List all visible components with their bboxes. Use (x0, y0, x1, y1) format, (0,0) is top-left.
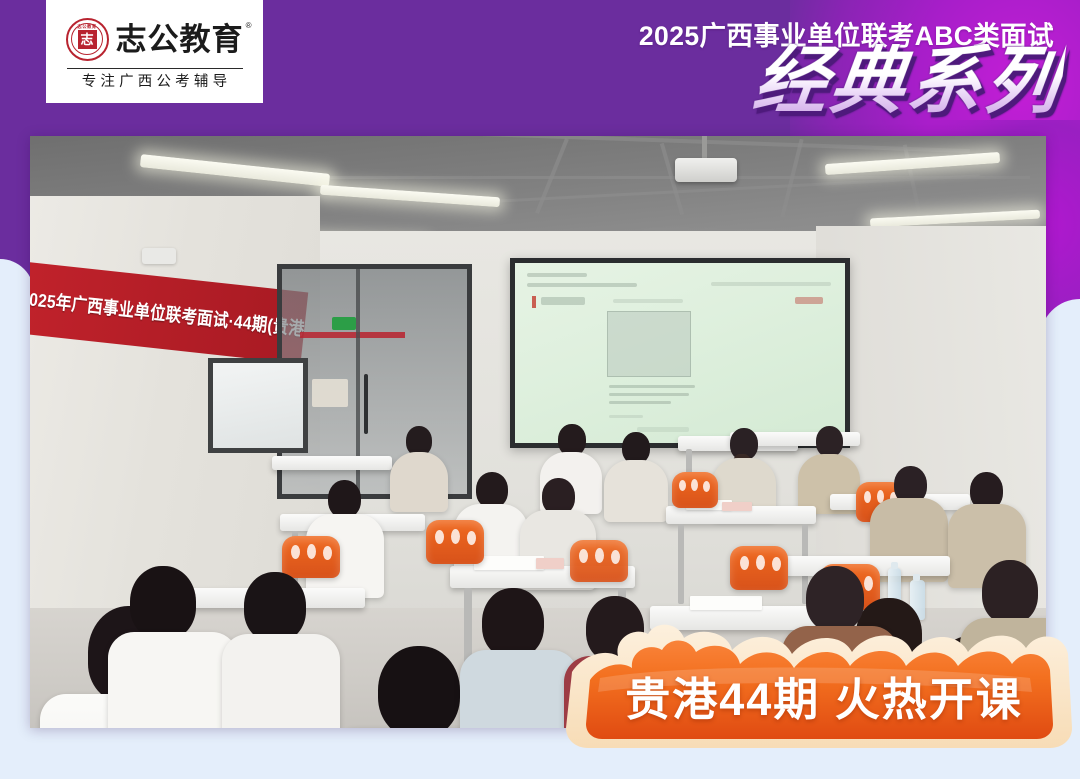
door-handle-icon[interactable] (364, 374, 368, 434)
brand-name-text: 志公教育 (116, 22, 244, 57)
wall-device-icon (142, 248, 176, 264)
projector-icon (675, 158, 737, 182)
door-red-strip (300, 332, 405, 338)
seal-emblem-icon: 志公教育 志 (66, 18, 109, 61)
header-title: 经典系列 (749, 44, 1066, 118)
screen-document-panel (607, 311, 691, 377)
paper-stack (722, 502, 752, 511)
water-bottle (888, 568, 901, 602)
paper-stack (690, 596, 762, 610)
brand-logo-box: 志公教育 志 志公教育 ® 专注广西公考辅导 (46, 0, 263, 103)
logo-divider (67, 68, 243, 70)
brand-name: 志公教育 ® (116, 24, 244, 55)
paper-stack (536, 558, 564, 569)
paper-stack (474, 556, 544, 570)
brand-tagline: 专注广西公考辅导 (78, 75, 232, 90)
flame-banner: 贵港44期 火热开课 (560, 620, 1080, 750)
chair (282, 536, 340, 578)
wall-banner-text: 2025年广西事业单位联考面试·44期(贵港) (30, 284, 308, 341)
exit-sign-icon (332, 317, 356, 330)
side-whiteboard (208, 358, 308, 453)
projector-screen (510, 258, 850, 448)
projector-screen-content (515, 263, 845, 443)
logo-top-row: 志公教育 志 志公教育 ® (66, 18, 244, 61)
projector-mount (702, 136, 707, 160)
chair (426, 520, 484, 564)
chair (672, 472, 718, 508)
chair (730, 546, 788, 590)
desk-leg (678, 524, 684, 604)
seal-center-char: 志 (78, 30, 97, 49)
registered-mark-icon: ® (246, 22, 253, 30)
flame-banner-text: 贵港44期 火热开课 (560, 620, 1080, 750)
screen-accent-mark (532, 296, 536, 308)
card-left-rounded-background (0, 259, 34, 779)
door-poster (312, 379, 348, 407)
desk (272, 456, 392, 470)
chair (570, 540, 628, 582)
screen-logo-mark (795, 297, 823, 304)
poster-root: 志公教育 志 志公教育 ® 专注广西公考辅导 2025广西事业单位联考ABC类面… (0, 0, 1080, 779)
